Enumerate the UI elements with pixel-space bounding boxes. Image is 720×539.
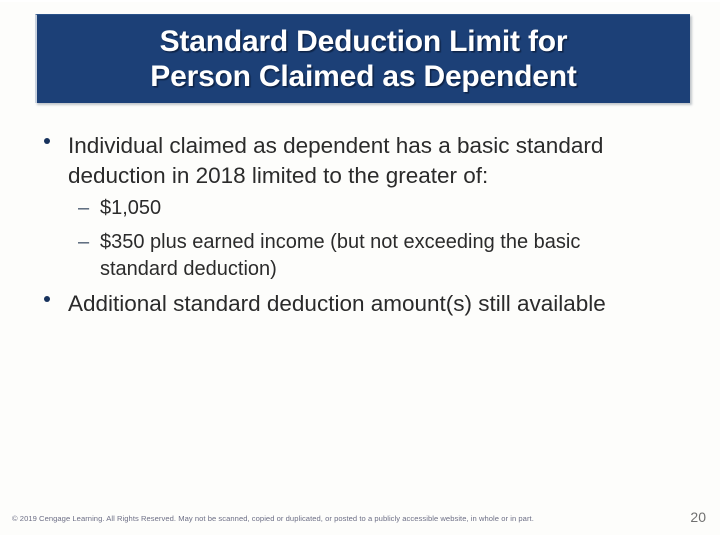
- slide-page-number: 20: [690, 509, 706, 525]
- bullet-dot-icon: [44, 138, 50, 144]
- page-title-line-2: Person Claimed as Dependent: [150, 59, 576, 94]
- bullet-label: $1,050: [100, 195, 630, 222]
- bullet-label: Additional standard deduction amount(s) …: [68, 289, 693, 319]
- page-title-line-1: Standard Deduction Limit for: [150, 24, 576, 59]
- slide-top-edge: [0, 0, 720, 2]
- bullet-item-primary-2: Additional standard deduction amount(s) …: [35, 289, 695, 319]
- page-title: Standard Deduction Limit for Person Clai…: [140, 24, 586, 95]
- bullet-sublist: – $1,050 – $350 plus earned income (but …: [35, 195, 695, 282]
- bullet-item-primary-1: Individual claimed as dependent has a ba…: [35, 131, 695, 190]
- slide-title-banner: Standard Deduction Limit for Person Clai…: [35, 14, 690, 103]
- bullet-label: $350 plus earned income (but not exceedi…: [100, 229, 630, 282]
- bullet-dot-icon: [44, 296, 50, 302]
- bullet-label: Individual claimed as dependent has a ba…: [68, 131, 693, 190]
- bullet-item-sub-1: – $1,050: [35, 195, 695, 222]
- slide-body: Individual claimed as dependent has a ba…: [35, 131, 695, 321]
- copyright-footer: © 2019 Cengage Learning. All Rights Rese…: [12, 514, 534, 523]
- bullet-item-sub-2: – $350 plus earned income (but not excee…: [35, 229, 695, 282]
- dash-marker-icon: –: [78, 195, 89, 222]
- dash-marker-icon: –: [78, 229, 89, 256]
- slide-bottom-edge: [0, 535, 720, 539]
- presentation-slide: Standard Deduction Limit for Person Clai…: [0, 0, 720, 539]
